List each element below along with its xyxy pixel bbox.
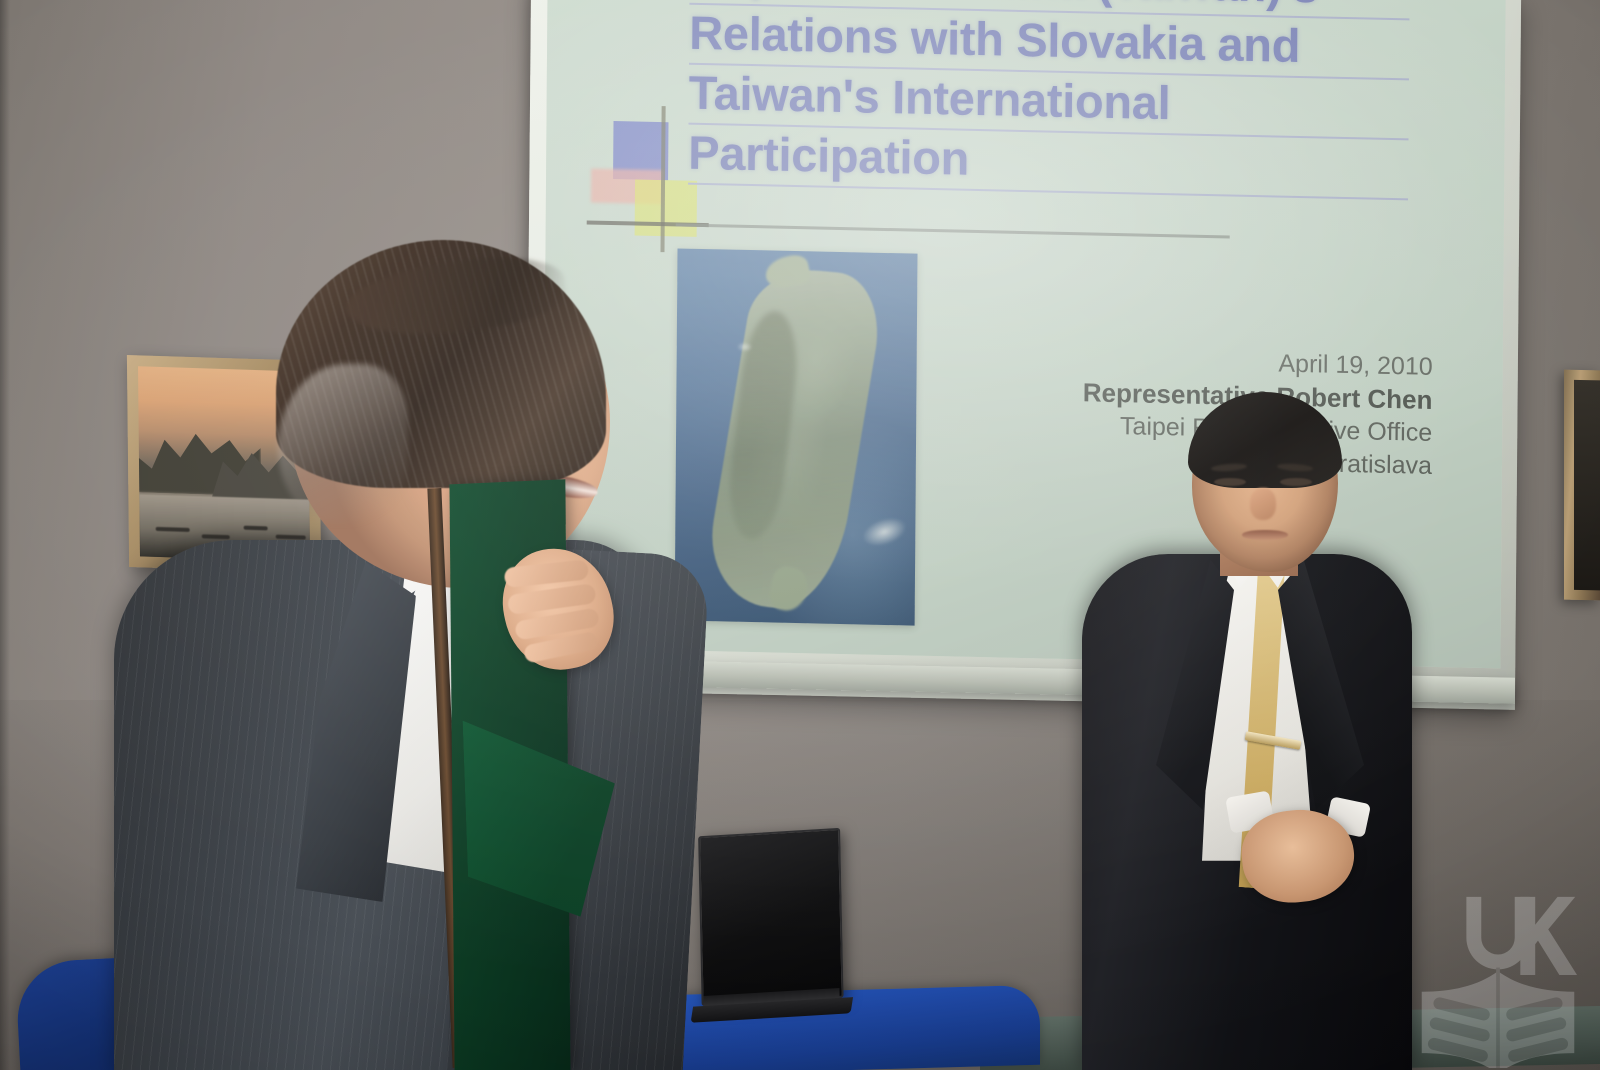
photo-vignette xyxy=(0,0,1600,1070)
photograph-scene: Republic of China (Taiwan)'s Relations w… xyxy=(0,0,1600,1070)
